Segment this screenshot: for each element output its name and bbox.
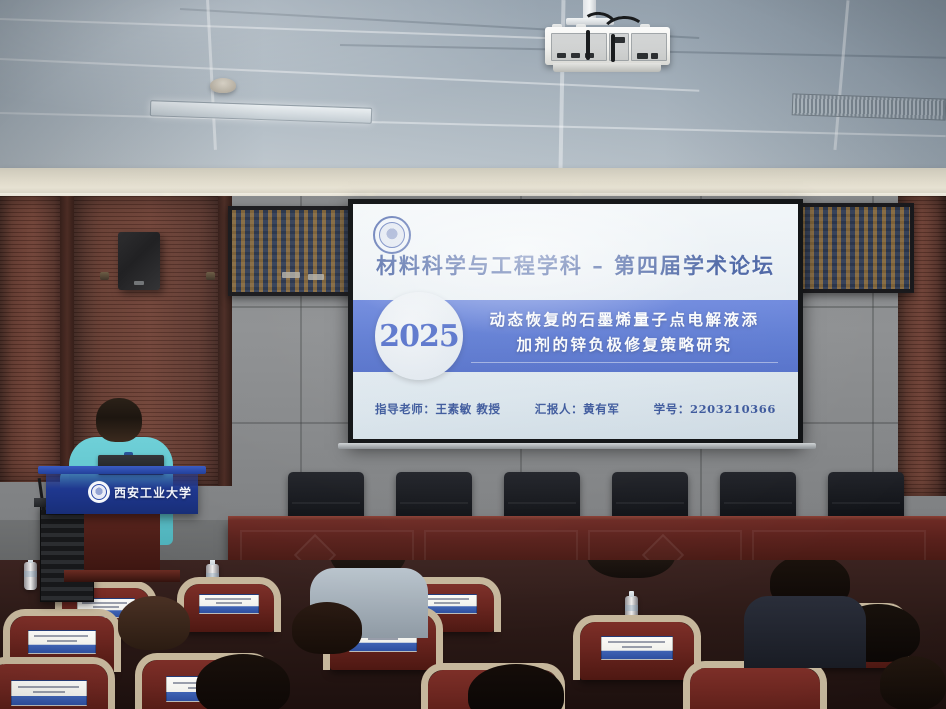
audience-seat [690,668,820,709]
slide-subtitle-line1: 动态恢复的石墨烯量子点电解液添 [465,308,784,333]
panel-shelf [308,274,324,280]
slide-subtitle: 动态恢复的石墨烯量子点电解液添 加剂的锌负极修复策略研究 [465,308,784,358]
audience-seat [0,664,108,709]
university-seal-icon [373,216,411,254]
audience-person-body [744,596,866,668]
acoustic-panel-left [228,206,356,296]
audience-seat [580,622,694,680]
projection-screen: 材料科学与工程学科 – 第四届学术论坛 2025 动态恢复的石墨烯量子点电解液添… [348,199,803,444]
slide-student-id: 学号：2203210366 [654,401,776,417]
audience-seat [184,584,274,632]
seat-placard [199,594,259,614]
audience-person [196,654,290,709]
podium-institution-label: 西安工业大学 [114,484,192,501]
seat-placard [601,636,673,660]
podium-stem [84,512,160,578]
water-bottle [24,562,37,590]
wood-wall-panel-left [0,196,66,482]
slide-title: 材料科学与工程学科 – 第四届学术论坛 [353,250,798,280]
seat-placard [11,680,87,706]
audience-person [880,656,946,709]
panel-shelf [282,272,300,278]
wall-speaker [118,232,160,290]
podium-seal-icon [88,481,110,503]
screen-bottom-bar [338,443,816,449]
acoustic-panel-right [788,203,914,293]
banner-rule [471,362,778,363]
audience-person [292,602,362,654]
slide-footer: 指导老师：王素敏 教授 汇报人：黄有军 学号：2203210366 [353,401,798,417]
presentation-slide: 材料科学与工程学科 – 第四届学术论坛 2025 动态恢复的石墨烯量子点电解液添… [353,204,798,439]
slide-banner: 2025 动态恢复的石墨烯量子点电解液添 加剂的锌负极修复策略研究 [353,300,798,372]
seat-placard [28,630,96,654]
ceiling [0,0,946,186]
lecture-hall-photo: 材料科学与工程学科 – 第四届学术论坛 2025 动态恢复的石墨烯量子点电解液添… [0,0,946,709]
wall-bracket [206,272,215,280]
audience-seating [0,560,946,709]
wall-bracket [100,272,109,280]
slide-presenter: 汇报人：黄有军 [501,401,654,417]
podium-base [64,570,180,582]
year-badge-label: 2025 [375,292,463,380]
audience-person [118,596,190,650]
presenter-head [96,398,142,442]
water-bottle [625,596,638,624]
slide-subtitle-line2: 加剂的锌负极修复策略研究 [465,333,784,358]
slide-advisor: 指导老师：王素敏 教授 [375,401,501,417]
